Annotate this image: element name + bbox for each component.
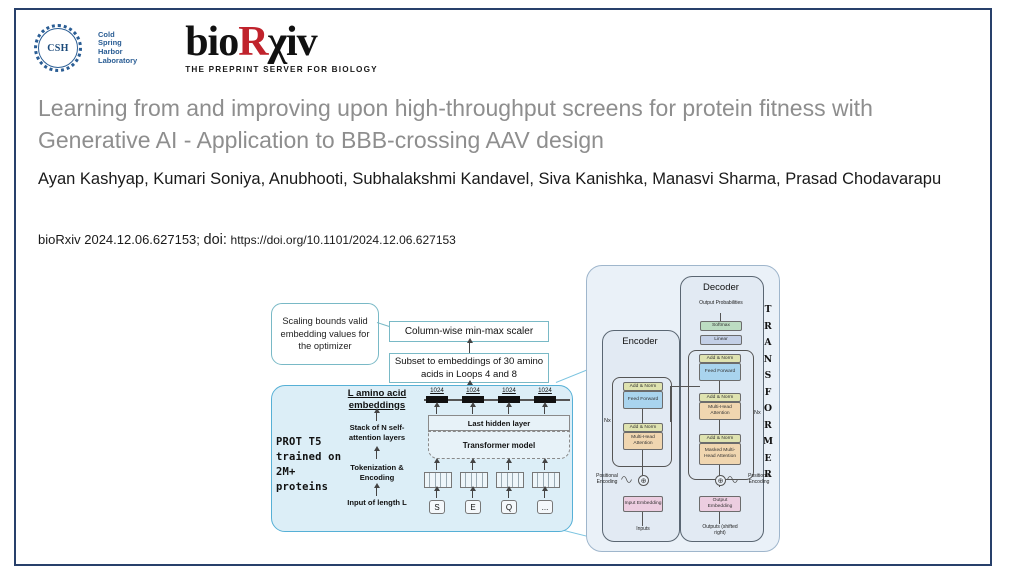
label-self-attention-stack: Stack of N self-attention layers xyxy=(334,423,420,442)
arrow-hidden-2 xyxy=(472,406,473,414)
arrow-aa-1 xyxy=(436,490,437,498)
wordmark-r: R xyxy=(238,19,267,65)
softmax-block: Softmax xyxy=(700,321,742,331)
encoder-nx-label: Nx xyxy=(604,418,611,424)
decoder-multi-head-attention: Multi-Head Attention xyxy=(699,402,741,420)
doi-url[interactable]: https://doi.org/10.1101/2024.12.06.62715… xyxy=(231,233,456,247)
cshl-org-name: Cold Spring Harbor Laboratory xyxy=(98,31,137,65)
encoder-inputs-label: Inputs xyxy=(623,526,663,532)
article-title: Learning from and improving upon high-th… xyxy=(38,92,938,156)
encoder-input-line xyxy=(642,512,643,526)
decoder-prob-line xyxy=(720,313,721,321)
cross-attn-vertical xyxy=(670,386,671,422)
label-tokenization: Tokenization & Encoding xyxy=(334,463,420,482)
decoder-ff-link xyxy=(719,381,720,393)
citation-server: bioRxiv 2024.12.06.627153; xyxy=(38,232,200,247)
arrow-tok-1 xyxy=(436,462,437,470)
encoder-multi-head-attention: Multi-Head Attention xyxy=(623,432,663,450)
encoder-positional-encoding-label: Positional Encoding xyxy=(592,473,622,486)
pipeline-figure: Scaling bounds valid embedding values fo… xyxy=(256,260,836,560)
decoder-title: Decoder xyxy=(680,282,762,293)
output-embedding-block: Output Embedding xyxy=(699,496,741,512)
article-authors: Ayan Kashyap, Kumari Soniya, Anubhooti, … xyxy=(38,166,968,192)
encoder-title: Encoder xyxy=(602,336,678,347)
decoder-add-norm-mid: Add & Norm xyxy=(699,393,741,402)
article-citation: bioRxiv 2024.12.06.627153; doi: https://… xyxy=(38,232,456,248)
decoder-add-norm-top: Add & Norm xyxy=(699,354,741,363)
arrow-hidden-3 xyxy=(508,406,509,414)
embedding-dim-3: 1024 xyxy=(497,387,521,394)
cshl-logo: CSH xyxy=(32,22,84,74)
encoder-add-norm-bottom: Add & Norm xyxy=(623,423,663,432)
arrow-tok-4 xyxy=(544,462,545,470)
biorxiv-tagline: THE PREPRINT SERVER FOR BIOLOGY xyxy=(185,65,378,74)
decoder-output-line xyxy=(719,512,720,524)
doi-label: doi: xyxy=(204,232,227,248)
box-subset-embeddings: Subset to embeddings of 30 amino acids i… xyxy=(389,353,549,383)
linear-block: Linear xyxy=(700,335,742,345)
arrow-hidden-1 xyxy=(436,406,437,414)
amino-token-ellipsis: ... xyxy=(537,500,553,514)
encoder-sine-icon xyxy=(621,475,634,484)
arrow-token-to-stack xyxy=(376,450,377,459)
callout-scaling-note: Scaling bounds valid embedding values fo… xyxy=(271,303,379,365)
embedding-dim-2: 1024 xyxy=(461,387,485,394)
encoder-attn-input-line xyxy=(642,450,643,476)
wordmark-bio: bio xyxy=(185,19,238,65)
amino-token-q: Q xyxy=(501,500,517,514)
decoder-masked-multi-head-attention: Masked Multi-Head Attention xyxy=(699,443,741,465)
embedding-dim-4: 1024 xyxy=(533,387,557,394)
embedding-dim-1: 1024 xyxy=(425,387,449,394)
org-line-laboratory: Laboratory xyxy=(98,57,137,66)
encoder-pos-add-circle: ⊕ xyxy=(638,475,649,486)
encoder-ff-link xyxy=(642,409,643,423)
decoder-attn-link xyxy=(719,420,720,434)
arrow-hidden-4 xyxy=(544,406,545,414)
biorxiv-logo[interactable]: bioRχiv THE PREPRINT SERVER FOR BIOLOGY xyxy=(185,22,378,74)
amino-token-e: E xyxy=(465,500,481,514)
cross-attn-horizontal xyxy=(670,386,700,387)
wordmark-iv: iv xyxy=(286,19,317,65)
arrow-subset-to-scaler xyxy=(469,342,470,353)
encoder-add-norm-top: Add & Norm xyxy=(623,382,663,391)
decoder-outputs-label: Outputs (shifted right) xyxy=(697,524,743,537)
label-input-length: Input of length L xyxy=(334,498,420,508)
arrow-tok-3 xyxy=(508,462,509,470)
decoder-positional-encoding-label: Positional Encoding xyxy=(742,473,776,486)
decoder-nx-label: Nx xyxy=(754,410,761,416)
decoder-pos-add-circle: ⊕ xyxy=(715,475,726,486)
arrow-tok-2 xyxy=(472,462,473,470)
output-probabilities-label: Output Probabilities xyxy=(698,300,744,306)
arrow-input-to-token xyxy=(376,487,377,496)
box-transformer-model: Transformer model xyxy=(428,431,570,459)
decoder-add-norm-bottom: Add & Norm xyxy=(699,434,741,443)
poster-frame: CSH Cold Spring Harbor Laboratory bioRχi… xyxy=(14,8,992,566)
amino-token-s: S xyxy=(429,500,445,514)
input-embedding-block: Input Embedding xyxy=(623,496,663,512)
arrow-stack-to-emb xyxy=(376,412,377,421)
decoder-feed-forward: Feed Forward xyxy=(699,363,741,381)
encoder-feed-forward: Feed Forward xyxy=(623,391,663,409)
biorxiv-header: CSH Cold Spring Harbor Laboratory bioRχi… xyxy=(32,22,378,74)
box-last-hidden-layer: Last hidden layer xyxy=(428,415,570,431)
wordmark-chi: χ xyxy=(268,19,286,65)
biorxiv-wordmark: bioRχiv xyxy=(185,22,378,62)
arrow-aa-2 xyxy=(472,490,473,498)
decoder-sine-icon xyxy=(727,475,740,484)
logo-monogram: CSH xyxy=(47,43,68,54)
arrow-aa-4 xyxy=(544,490,545,498)
arrow-aa-3 xyxy=(508,490,509,498)
